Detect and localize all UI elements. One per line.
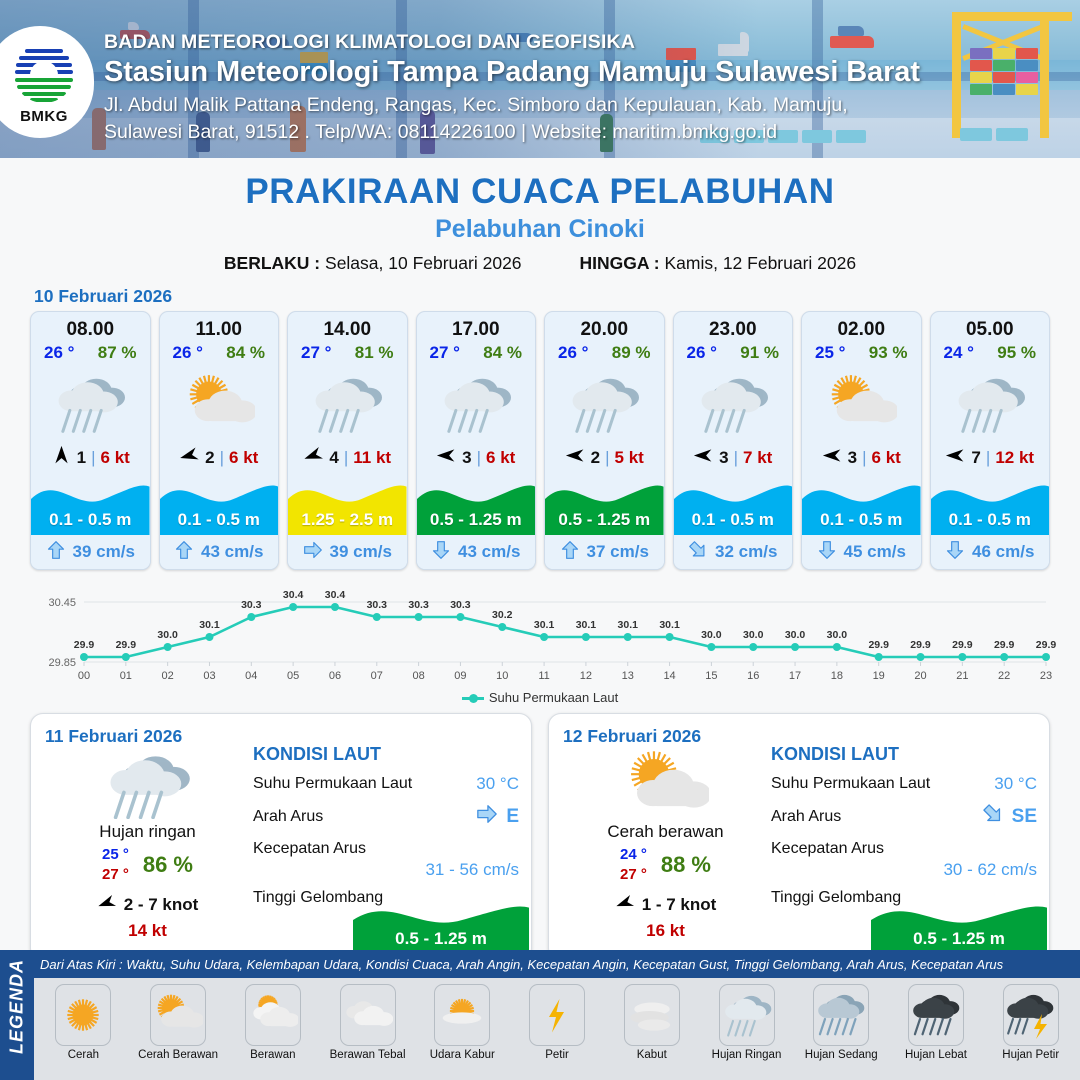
svg-text:30.2: 30.2 xyxy=(492,609,513,621)
svg-text:09: 09 xyxy=(454,670,466,682)
svg-text:17: 17 xyxy=(789,670,801,682)
legend-item-label: Hujan Lebat xyxy=(905,1049,967,1061)
legend-item-label: Petir xyxy=(545,1049,569,1061)
svg-text:19: 19 xyxy=(873,670,885,682)
daily-temp-humidity: 24 ° 27 ° 88 % xyxy=(563,845,768,886)
svg-text:29.9: 29.9 xyxy=(910,639,931,651)
legend-item: Udara Kabur xyxy=(415,984,510,1061)
wind-separator: | xyxy=(477,448,481,468)
card-temperature: 26 ° xyxy=(558,343,588,363)
logo-emblem-icon xyxy=(13,41,75,103)
legend-item-label: Hujan Petir xyxy=(1002,1049,1059,1061)
daily-gust: 14 kt xyxy=(45,921,250,941)
svg-text:30.0: 30.0 xyxy=(743,629,764,641)
wave-height-value: 0.1 - 0.5 m xyxy=(802,510,921,530)
svg-text:30.0: 30.0 xyxy=(701,629,722,641)
legend-items-row: Cerah Cerah Berawan Berawan Berawan Teba… xyxy=(34,978,1080,1080)
svg-text:30.0: 30.0 xyxy=(785,629,806,641)
legend-main: Dari Atas Kiri : Waktu, Suhu Udara, Kele… xyxy=(34,950,1080,1080)
current-direction-arrow-icon xyxy=(174,540,194,565)
svg-text:06: 06 xyxy=(329,670,341,682)
page-subtitle: Pelabuhan Cinoki xyxy=(0,215,1080,244)
svg-text:01: 01 xyxy=(120,670,132,682)
card-time: 20.00 xyxy=(545,312,664,341)
wind-direction-value: 4 xyxy=(329,448,338,468)
current-speed-value: 46 cm/s xyxy=(972,542,1034,562)
hourly-date-label: 10 Februari 2026 xyxy=(34,286,1080,307)
page-title: PRAKIRAAN CUACA PELABUHAN xyxy=(0,172,1080,212)
valid-from-label: BERLAKU : xyxy=(224,253,320,273)
wind-direction-arrow-icon xyxy=(565,445,586,471)
legend-bar: LEGENDA Dari Atas Kiri : Waktu, Suhu Uda… xyxy=(0,950,1080,1080)
wind-speed-value: 12 kt xyxy=(995,448,1034,468)
current-speed-value: 39 cm/s xyxy=(330,542,392,562)
hourly-cards-row: 08.00 26 ° 87 % 1 | 6 kt 0.1 - 0.5 m 39 … xyxy=(0,311,1080,570)
daily-wind-range: 2 - 7 knot xyxy=(124,895,199,915)
svg-text:30.3: 30.3 xyxy=(241,599,262,611)
wind-direction-arrow-icon xyxy=(436,445,457,471)
legend-item: Hujan Petir xyxy=(983,984,1078,1061)
daily-temp-max: 27 ° xyxy=(620,865,647,885)
wind-direction-arrow-icon xyxy=(822,445,843,471)
legend-item-label: Cerah Berawan xyxy=(138,1049,218,1061)
current-direction-value: SE xyxy=(1012,806,1037,828)
svg-text:08: 08 xyxy=(412,670,424,682)
hourly-card: 11.00 26 ° 84 % 2 | 6 kt 0.1 - 0.5 m 43 … xyxy=(159,311,280,570)
svg-text:29.9: 29.9 xyxy=(952,639,973,651)
svg-text:30.3: 30.3 xyxy=(450,599,471,611)
svg-text:30.3: 30.3 xyxy=(408,599,429,611)
card-wind: 2 | 6 kt xyxy=(160,443,279,473)
card-temp-humidity: 26 ° 87 % xyxy=(31,341,150,363)
wind-direction-value: 2 xyxy=(591,448,600,468)
valid-until: HINGGA : Kamis, 12 Februari 2026 xyxy=(580,253,857,274)
weather-berawan-icon xyxy=(245,984,301,1046)
valid-from: BERLAKU : Selasa, 10 Februari 2026 xyxy=(224,253,522,274)
station-name: Stasiun Meteorologi Tampa Padang Mamuju … xyxy=(104,55,1034,90)
card-wave: 0.1 - 0.5 m xyxy=(160,473,279,535)
svg-text:29.9: 29.9 xyxy=(994,639,1015,651)
valid-from-value: Selasa, 10 Februari 2026 xyxy=(325,253,522,273)
svg-text:16: 16 xyxy=(747,670,759,682)
current-speed-label: Kecepatan Arus xyxy=(253,840,366,858)
current-direction-value-group: E xyxy=(476,803,519,831)
wind-separator: | xyxy=(220,448,224,468)
card-current: 46 cm/s xyxy=(931,535,1050,569)
wind-direction-value: 2 xyxy=(205,448,214,468)
card-humidity: 93 % xyxy=(869,343,908,363)
svg-text:30.4: 30.4 xyxy=(283,589,304,601)
current-direction-label: Arah Arus xyxy=(253,808,323,826)
current-direction-arrow-icon xyxy=(46,540,66,565)
weather-cerah-berawan-icon xyxy=(150,984,206,1046)
card-current: 43 cm/s xyxy=(160,535,279,569)
card-current: 45 cm/s xyxy=(802,535,921,569)
card-humidity: 81 % xyxy=(355,343,394,363)
daily-condition: Cerah berawan xyxy=(563,822,768,842)
weather-hujan-ringan-icon xyxy=(931,363,1050,443)
card-temp-humidity: 26 ° 91 % xyxy=(674,341,793,363)
wind-speed-value: 6 kt xyxy=(872,448,901,468)
card-wave: 0.1 - 0.5 m xyxy=(931,473,1050,535)
hourly-card: 08.00 26 ° 87 % 1 | 6 kt 0.1 - 0.5 m 39 … xyxy=(30,311,151,570)
svg-text:15: 15 xyxy=(705,670,717,682)
hourly-card: 23.00 26 ° 91 % 3 | 7 kt 0.1 - 0.5 m 32 … xyxy=(673,311,794,570)
weather-hujan-lebat-icon xyxy=(908,984,964,1046)
card-wind: 1 | 6 kt xyxy=(31,443,150,473)
weather-udara-kabur-icon xyxy=(434,984,490,1046)
card-temperature: 27 ° xyxy=(430,343,460,363)
card-time: 11.00 xyxy=(160,312,279,341)
crane-illustration xyxy=(1040,18,1049,138)
sst-label: Suhu Permukaan Laut xyxy=(253,775,412,793)
svg-text:11: 11 xyxy=(538,670,549,682)
svg-text:30.1: 30.1 xyxy=(659,619,680,631)
svg-text:20: 20 xyxy=(914,670,926,682)
legend-item: Hujan Sedang xyxy=(794,984,889,1061)
wave-height-value: 0.5 - 1.25 m xyxy=(545,510,664,530)
svg-text:22: 22 xyxy=(998,670,1010,682)
daily-temp-range: 25 ° 27 ° xyxy=(102,845,129,886)
card-wave: 0.1 - 0.5 m xyxy=(674,473,793,535)
daily-wave-value: 0.5 - 1.25 m xyxy=(871,929,1047,949)
current-direction-value-group: SE xyxy=(982,803,1037,831)
card-temperature: 27 ° xyxy=(301,343,331,363)
crane-illustration xyxy=(952,12,1072,21)
card-wind: 2 | 5 kt xyxy=(545,443,664,473)
svg-text:29.9: 29.9 xyxy=(116,639,137,651)
svg-text:04: 04 xyxy=(245,670,257,682)
svg-text:07: 07 xyxy=(371,670,383,682)
daily-panel: 12 Februari 2026 Cerah berawan 24 ° 27 °… xyxy=(548,713,1050,961)
legend-item: Hujan Lebat xyxy=(889,984,984,1061)
weather-petir-icon xyxy=(529,984,585,1046)
svg-text:30.1: 30.1 xyxy=(618,619,639,631)
wind-direction-value: 3 xyxy=(462,448,471,468)
sst-value: 30 °C xyxy=(994,774,1037,794)
sst-row: Suhu Permukaan Laut 30 °C xyxy=(771,774,1037,794)
current-speed-value: 43 cm/s xyxy=(201,542,263,562)
card-humidity: 84 % xyxy=(483,343,522,363)
current-speed-value: 37 cm/s xyxy=(587,542,649,562)
daily-temp-min: 24 ° xyxy=(620,845,647,865)
daily-left-block: Hujan ringan 25 ° 27 ° 86 % 2 - 7 knot 1… xyxy=(45,748,250,941)
valid-until-label: HINGGA : xyxy=(580,253,660,273)
card-temperature: 25 ° xyxy=(815,343,845,363)
svg-text:30.0: 30.0 xyxy=(827,629,848,641)
card-current: 43 cm/s xyxy=(417,535,536,569)
svg-text:03: 03 xyxy=(203,670,215,682)
wind-direction-arrow-icon xyxy=(615,893,635,918)
legend-item: Petir xyxy=(510,984,605,1061)
svg-text:23: 23 xyxy=(1040,670,1052,682)
daily-temp-humidity: 25 ° 27 ° 86 % xyxy=(45,845,250,886)
legend-item: Berawan Tebal xyxy=(320,984,415,1061)
weather-cerah-berawan-icon xyxy=(802,363,921,443)
wave-height-value: 0.1 - 0.5 m xyxy=(160,510,279,530)
daily-wind-range: 1 - 7 knot xyxy=(642,895,717,915)
weather-hujan-sedang-icon xyxy=(813,984,869,1046)
daily-humidity: 88 % xyxy=(661,852,711,878)
sea-condition-title: KONDISI LAUT xyxy=(253,744,519,765)
daily-humidity: 86 % xyxy=(143,852,193,878)
legend-item: Hujan Ringan xyxy=(699,984,794,1061)
current-direction-arrow-icon xyxy=(945,540,965,565)
hourly-card: 14.00 27 ° 81 % 4 | 11 kt 1.25 - 2.5 m 3… xyxy=(287,311,408,570)
page-header: BMKG BADAN METEOROLOGI KLIMATOLOGI DAN G… xyxy=(0,0,1080,158)
wind-direction-arrow-icon xyxy=(945,445,966,471)
card-humidity: 91 % xyxy=(740,343,779,363)
legend-item-label: Cerah xyxy=(68,1049,99,1061)
wind-separator: | xyxy=(862,448,866,468)
card-humidity: 84 % xyxy=(226,343,265,363)
wind-speed-value: 6 kt xyxy=(486,448,515,468)
wind-separator: | xyxy=(91,448,95,468)
card-temperature: 26 ° xyxy=(687,343,717,363)
card-current: 37 cm/s xyxy=(545,535,664,569)
hourly-card: 02.00 25 ° 93 % 3 | 6 kt 0.1 - 0.5 m 45 … xyxy=(801,311,922,570)
card-temp-humidity: 24 ° 95 % xyxy=(931,341,1050,363)
legend-item: Berawan xyxy=(225,984,320,1061)
card-humidity: 87 % xyxy=(98,343,137,363)
weather-hujan-ringan-icon xyxy=(31,363,150,443)
card-current: 39 cm/s xyxy=(288,535,407,569)
card-temperature: 26 ° xyxy=(44,343,74,363)
sea-condition-title: KONDISI LAUT xyxy=(771,744,1037,765)
wind-direction-arrow-icon xyxy=(179,445,200,471)
weather-cerah-berawan-icon xyxy=(160,363,279,443)
current-speed-label: Kecepatan Arus xyxy=(771,840,884,858)
wind-direction-value: 7 xyxy=(971,448,980,468)
card-time: 14.00 xyxy=(288,312,407,341)
legend-note: Dari Atas Kiri : Waktu, Suhu Udara, Kele… xyxy=(34,950,1080,978)
wind-speed-value: 7 kt xyxy=(743,448,772,468)
weather-cerah-berawan-icon xyxy=(563,748,768,820)
svg-text:29.9: 29.9 xyxy=(868,639,889,651)
card-time: 17.00 xyxy=(417,312,536,341)
legend-item-label: Berawan xyxy=(250,1049,295,1061)
legend-item: Cerah xyxy=(36,984,131,1061)
current-speed-value: 32 cm/s xyxy=(715,542,777,562)
card-temp-humidity: 25 ° 93 % xyxy=(802,341,921,363)
current-direction-row: Arah Arus E xyxy=(253,803,519,831)
current-direction-arrow-icon xyxy=(817,540,837,565)
weather-hujan-ringan-icon xyxy=(674,363,793,443)
svg-text:30.3: 30.3 xyxy=(367,599,388,611)
card-temp-humidity: 26 ° 89 % xyxy=(545,341,664,363)
current-speed-row: Kecepatan Arus xyxy=(771,840,1037,858)
card-wind: 4 | 11 kt xyxy=(288,443,407,473)
current-direction-arrow-icon xyxy=(303,540,323,565)
address-line-1: Jl. Abdul Malik Pattana Endeng, Rangas, … xyxy=(104,93,1034,119)
current-direction-arrow-icon xyxy=(982,803,1004,831)
legend-item-label: Hujan Sedang xyxy=(805,1049,878,1061)
legend-item-label: Udara Kabur xyxy=(430,1049,495,1061)
svg-text:05: 05 xyxy=(287,670,299,682)
current-speed-value: 45 cm/s xyxy=(844,542,906,562)
logo-text: BMKG xyxy=(7,108,81,125)
current-speed-value: 30 - 62 cm/s xyxy=(771,860,1037,880)
wave-height-value: 0.5 - 1.25 m xyxy=(417,510,536,530)
daily-temp-max: 27 ° xyxy=(102,865,129,885)
card-temperature: 24 ° xyxy=(944,343,974,363)
weather-berawan-tebal-icon xyxy=(340,984,396,1046)
legend-side-title: LEGENDA xyxy=(0,950,34,1080)
wind-direction-value: 3 xyxy=(719,448,728,468)
svg-text:00: 00 xyxy=(78,670,90,682)
current-direction-arrow-icon xyxy=(476,803,498,831)
current-direction-arrow-icon xyxy=(560,540,580,565)
daily-wave-value: 0.5 - 1.25 m xyxy=(353,929,529,949)
current-speed-value: 43 cm/s xyxy=(458,542,520,562)
weather-hujan-ringan-icon xyxy=(288,363,407,443)
card-temp-humidity: 27 ° 81 % xyxy=(288,341,407,363)
weather-hujan-ringan-icon xyxy=(45,748,250,820)
forecast-page: BMKG BADAN METEOROLOGI KLIMATOLOGI DAN G… xyxy=(0,0,1080,1080)
wind-direction-arrow-icon xyxy=(693,445,714,471)
legend-item-label: Berawan Tebal xyxy=(330,1049,406,1061)
current-direction-value: E xyxy=(506,806,519,828)
wind-speed-value: 11 kt xyxy=(353,448,391,468)
weather-hujan-ringan-icon xyxy=(545,363,664,443)
daily-temp-range: 24 ° 27 ° xyxy=(620,845,647,886)
chart-legend-label: Suhu Permukaan Laut xyxy=(489,690,618,705)
weather-kabut-icon xyxy=(624,984,680,1046)
wind-separator: | xyxy=(734,448,738,468)
current-direction-arrow-icon xyxy=(688,540,708,565)
svg-text:14: 14 xyxy=(663,670,675,682)
card-wind: 3 | 6 kt xyxy=(802,443,921,473)
svg-text:30.0: 30.0 xyxy=(157,629,178,641)
wave-height-value: 0.1 - 0.5 m xyxy=(674,510,793,530)
svg-text:29.9: 29.9 xyxy=(74,639,95,651)
card-wind: 3 | 6 kt xyxy=(417,443,536,473)
chart-legend-swatch-icon xyxy=(462,697,484,700)
card-humidity: 89 % xyxy=(612,343,651,363)
header-text-block: BADAN METEOROLOGI KLIMATOLOGI DAN GEOFIS… xyxy=(104,30,1034,146)
svg-text:13: 13 xyxy=(622,670,634,682)
daily-temp-min: 25 ° xyxy=(102,845,129,865)
wave-height-value: 1.25 - 2.5 m xyxy=(288,510,407,530)
svg-text:02: 02 xyxy=(162,670,174,682)
sst-row: Suhu Permukaan Laut 30 °C xyxy=(253,774,519,794)
card-time: 02.00 xyxy=(802,312,921,341)
wind-speed-value: 6 kt xyxy=(101,448,130,468)
svg-text:29.85: 29.85 xyxy=(48,657,76,669)
legend-item-label: Kabut xyxy=(637,1049,667,1061)
daily-condition: Hujan ringan xyxy=(45,822,250,842)
svg-text:10: 10 xyxy=(496,670,508,682)
svg-text:30.45: 30.45 xyxy=(48,597,76,609)
sea-condition-block: KONDISI LAUT Suhu Permukaan Laut 30 °C A… xyxy=(253,744,519,907)
wind-speed-value: 6 kt xyxy=(229,448,258,468)
wind-speed-value: 5 kt xyxy=(615,448,644,468)
card-wave: 0.1 - 0.5 m xyxy=(802,473,921,535)
sea-condition-block: KONDISI LAUT Suhu Permukaan Laut 30 °C A… xyxy=(771,744,1037,907)
current-direction-arrow-icon xyxy=(431,540,451,565)
current-speed-row: Kecepatan Arus xyxy=(253,840,519,858)
wind-separator: | xyxy=(986,448,990,468)
weather-cerah-icon xyxy=(55,984,111,1046)
weather-hujan-petir-icon xyxy=(1003,984,1059,1046)
weather-hujan-ringan-icon xyxy=(417,363,536,443)
wind-direction-arrow-icon xyxy=(303,445,324,471)
sst-chart: 29.8530.4529.90029.90130.00230.10330.304… xyxy=(22,580,1058,688)
svg-text:29.9: 29.9 xyxy=(1036,639,1057,651)
sst-label: Suhu Permukaan Laut xyxy=(771,775,930,793)
legend-item: Kabut xyxy=(604,984,699,1061)
sst-chart-svg: 29.8530.4529.90029.90130.00230.10330.304… xyxy=(22,580,1058,688)
card-wave: 0.1 - 0.5 m xyxy=(31,473,150,535)
wind-separator: | xyxy=(605,448,609,468)
wind-separator: | xyxy=(344,448,348,468)
svg-text:18: 18 xyxy=(831,670,843,682)
daily-wind: 1 - 7 knot xyxy=(563,893,768,918)
card-time: 08.00 xyxy=(31,312,150,341)
card-wind: 7 | 12 kt xyxy=(931,443,1050,473)
hourly-card: 20.00 26 ° 89 % 2 | 5 kt 0.5 - 1.25 m 37… xyxy=(544,311,665,570)
card-wave: 0.5 - 1.25 m xyxy=(417,473,536,535)
card-temp-humidity: 27 ° 84 % xyxy=(417,341,536,363)
card-humidity: 95 % xyxy=(997,343,1036,363)
bmkg-logo: BMKG xyxy=(0,26,94,138)
weather-hujan-ringan-icon xyxy=(719,984,775,1046)
svg-text:30.1: 30.1 xyxy=(534,619,555,631)
current-speed-value: 31 - 56 cm/s xyxy=(253,860,519,880)
card-time: 05.00 xyxy=(931,312,1050,341)
daily-left-block: Cerah berawan 24 ° 27 ° 88 % 1 - 7 knot … xyxy=(563,748,768,941)
card-current: 32 cm/s xyxy=(674,535,793,569)
card-temperature: 26 ° xyxy=(173,343,203,363)
chart-legend: Suhu Permukaan Laut xyxy=(0,690,1080,705)
current-speed-value: 39 cm/s xyxy=(73,542,135,562)
svg-text:30.1: 30.1 xyxy=(576,619,597,631)
daily-wind: 2 - 7 knot xyxy=(45,893,250,918)
daily-wave: 0.5 - 1.25 m xyxy=(353,894,529,956)
hourly-card: 17.00 27 ° 84 % 3 | 6 kt 0.5 - 1.25 m 43… xyxy=(416,311,537,570)
card-wave: 0.5 - 1.25 m xyxy=(545,473,664,535)
wind-direction-arrow-icon xyxy=(97,893,117,918)
wind-direction-value: 1 xyxy=(77,448,86,468)
wind-direction-arrow-icon xyxy=(51,445,72,471)
svg-text:30.4: 30.4 xyxy=(325,589,346,601)
card-wave: 1.25 - 2.5 m xyxy=(288,473,407,535)
svg-text:30.1: 30.1 xyxy=(199,619,220,631)
legend-item: Cerah Berawan xyxy=(131,984,226,1061)
svg-text:21: 21 xyxy=(956,670,968,682)
valid-until-value: Kamis, 12 Februari 2026 xyxy=(664,253,856,273)
daily-gust: 16 kt xyxy=(563,921,768,941)
hourly-card: 05.00 24 ° 95 % 7 | 12 kt 0.1 - 0.5 m 46… xyxy=(930,311,1051,570)
current-direction-label: Arah Arus xyxy=(771,808,841,826)
card-wind: 3 | 7 kt xyxy=(674,443,793,473)
sst-value: 30 °C xyxy=(476,774,519,794)
legend-side-label: LEGENDA xyxy=(7,957,28,1057)
daily-wave: 0.5 - 1.25 m xyxy=(871,894,1047,956)
daily-panel: 11 Februari 2026 Hujan ringan 25 ° 27 ° … xyxy=(30,713,532,961)
current-direction-row: Arah Arus SE xyxy=(771,803,1037,831)
svg-text:12: 12 xyxy=(580,670,592,682)
legend-item-label: Hujan Ringan xyxy=(712,1049,782,1061)
card-time: 23.00 xyxy=(674,312,793,341)
card-temp-humidity: 26 ° 84 % xyxy=(160,341,279,363)
daily-panels-row: 11 Februari 2026 Hujan ringan 25 ° 27 ° … xyxy=(0,705,1080,961)
validity-row: BERLAKU : Selasa, 10 Februari 2026 HINGG… xyxy=(0,253,1080,274)
agency-name: BADAN METEOROLOGI KLIMATOLOGI DAN GEOFIS… xyxy=(104,30,1034,54)
address-line-2: Sulawesi Barat, 91512 . Telp/WA: 0811422… xyxy=(104,120,1034,146)
card-current: 39 cm/s xyxy=(31,535,150,569)
wave-height-value: 0.1 - 0.5 m xyxy=(931,510,1050,530)
